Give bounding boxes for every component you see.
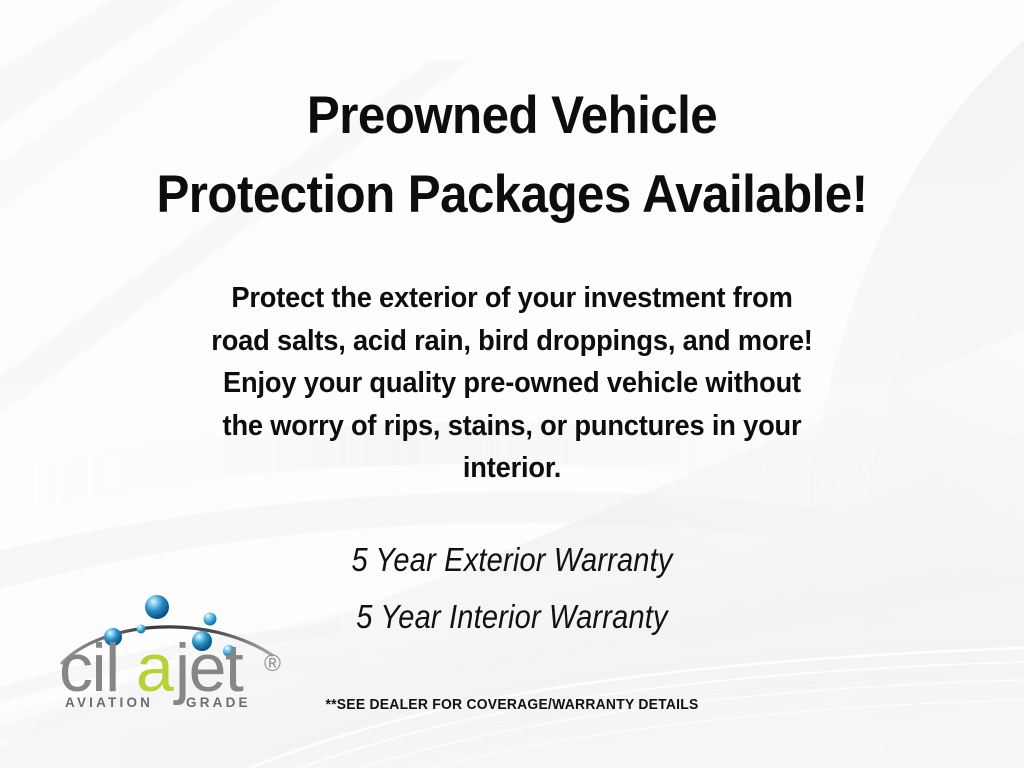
- logo-registered-icon: ®: [264, 650, 281, 676]
- title-line-1: Preowned Vehicle: [36, 76, 988, 155]
- logo-tagline-grade: GRADE: [186, 695, 251, 710]
- title-line-2: Protection Packages Available!: [36, 155, 988, 234]
- page-title: Preowned Vehicle Protection Packages Ava…: [0, 76, 1024, 234]
- body-line-2: road salts, acid rain, bird droppings, a…: [31, 320, 994, 363]
- body-line-5: interior.: [31, 447, 994, 490]
- slide-content: Preowned Vehicle Protection Packages Ava…: [0, 0, 1024, 768]
- body-line-4: the worry of rips, stains, or punctures …: [31, 405, 994, 448]
- cilajet-logo: cil a jet ® AVIATION GRADE: [58, 583, 298, 711]
- warranty-exterior: 5 Year Exterior Warranty: [61, 531, 962, 588]
- logo-tagline-aviation: AVIATION: [65, 695, 153, 710]
- body-line-1: Protect the exterior of your investment …: [31, 277, 994, 320]
- body-line-3: Enjoy your quality pre-owned vehicle wit…: [31, 362, 994, 405]
- slide-canvas: Preowned Vehicle Protection Packages Ava…: [0, 0, 1024, 768]
- body-copy: Protect the exterior of your investment …: [0, 277, 1024, 490]
